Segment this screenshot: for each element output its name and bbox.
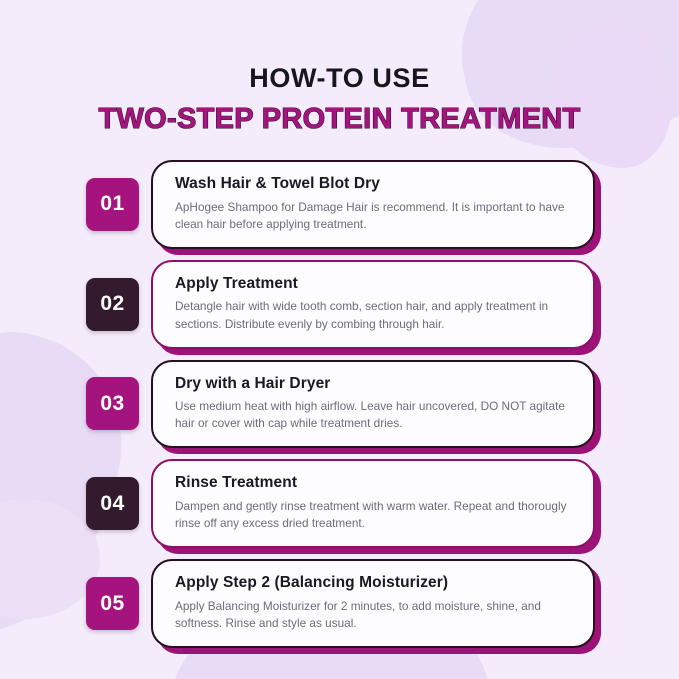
step-title: Wash Hair & Towel Blot Dry — [175, 175, 571, 194]
step-description: Detangle hair with wide tooth comb, sect… — [175, 298, 571, 332]
step-card: Apply Treatment Detangle hair with wide … — [151, 260, 595, 349]
header: HOW-TO USE TWO-STEP PROTEIN TREATMENT — [0, 0, 679, 136]
step-item: 01 Wash Hair & Towel Blot Dry ApHogee Sh… — [86, 160, 595, 249]
step-title: Dry with a Hair Dryer — [175, 375, 571, 394]
step-card: Apply Step 2 (Balancing Moisturizer) App… — [151, 559, 595, 648]
step-description: ApHogee Shampoo for Damage Hair is recom… — [175, 199, 571, 233]
steps-list: 01 Wash Hair & Towel Blot Dry ApHogee Sh… — [0, 160, 679, 648]
step-number-badge: 03 — [86, 377, 139, 430]
step-card-wrapper: Apply Treatment Detangle hair with wide … — [151, 260, 595, 349]
step-card: Wash Hair & Towel Blot Dry ApHogee Shamp… — [151, 160, 595, 249]
step-card: Dry with a Hair Dryer Use medium heat wi… — [151, 360, 595, 449]
infographic-page: HOW-TO USE TWO-STEP PROTEIN TREATMENT 01… — [0, 0, 679, 679]
step-description: Apply Balancing Moisturizer for 2 minute… — [175, 598, 571, 632]
step-card-wrapper: Apply Step 2 (Balancing Moisturizer) App… — [151, 559, 595, 648]
step-description: Use medium heat with high airflow. Leave… — [175, 398, 571, 432]
step-description: Dampen and gently rinse treatment with w… — [175, 498, 571, 532]
step-item: 04 Rinse Treatment Dampen and gently rin… — [86, 459, 595, 548]
page-title-main: HOW-TO USE — [0, 64, 679, 94]
step-item: 05 Apply Step 2 (Balancing Moisturizer) … — [86, 559, 595, 648]
step-item: 02 Apply Treatment Detangle hair with wi… — [86, 260, 595, 349]
step-number-badge: 01 — [86, 178, 139, 231]
step-number-badge: 05 — [86, 577, 139, 630]
step-card-wrapper: Rinse Treatment Dampen and gently rinse … — [151, 459, 595, 548]
step-number-badge: 04 — [86, 477, 139, 530]
step-card-wrapper: Wash Hair & Towel Blot Dry ApHogee Shamp… — [151, 160, 595, 249]
step-title: Apply Treatment — [175, 275, 571, 294]
step-card: Rinse Treatment Dampen and gently rinse … — [151, 459, 595, 548]
step-title: Apply Step 2 (Balancing Moisturizer) — [175, 574, 571, 593]
step-item: 03 Dry with a Hair Dryer Use medium heat… — [86, 360, 595, 449]
step-number-badge: 02 — [86, 278, 139, 331]
page-title-sub: TWO-STEP PROTEIN TREATMENT — [0, 103, 679, 136]
step-card-wrapper: Dry with a Hair Dryer Use medium heat wi… — [151, 360, 595, 449]
step-title: Rinse Treatment — [175, 474, 571, 493]
